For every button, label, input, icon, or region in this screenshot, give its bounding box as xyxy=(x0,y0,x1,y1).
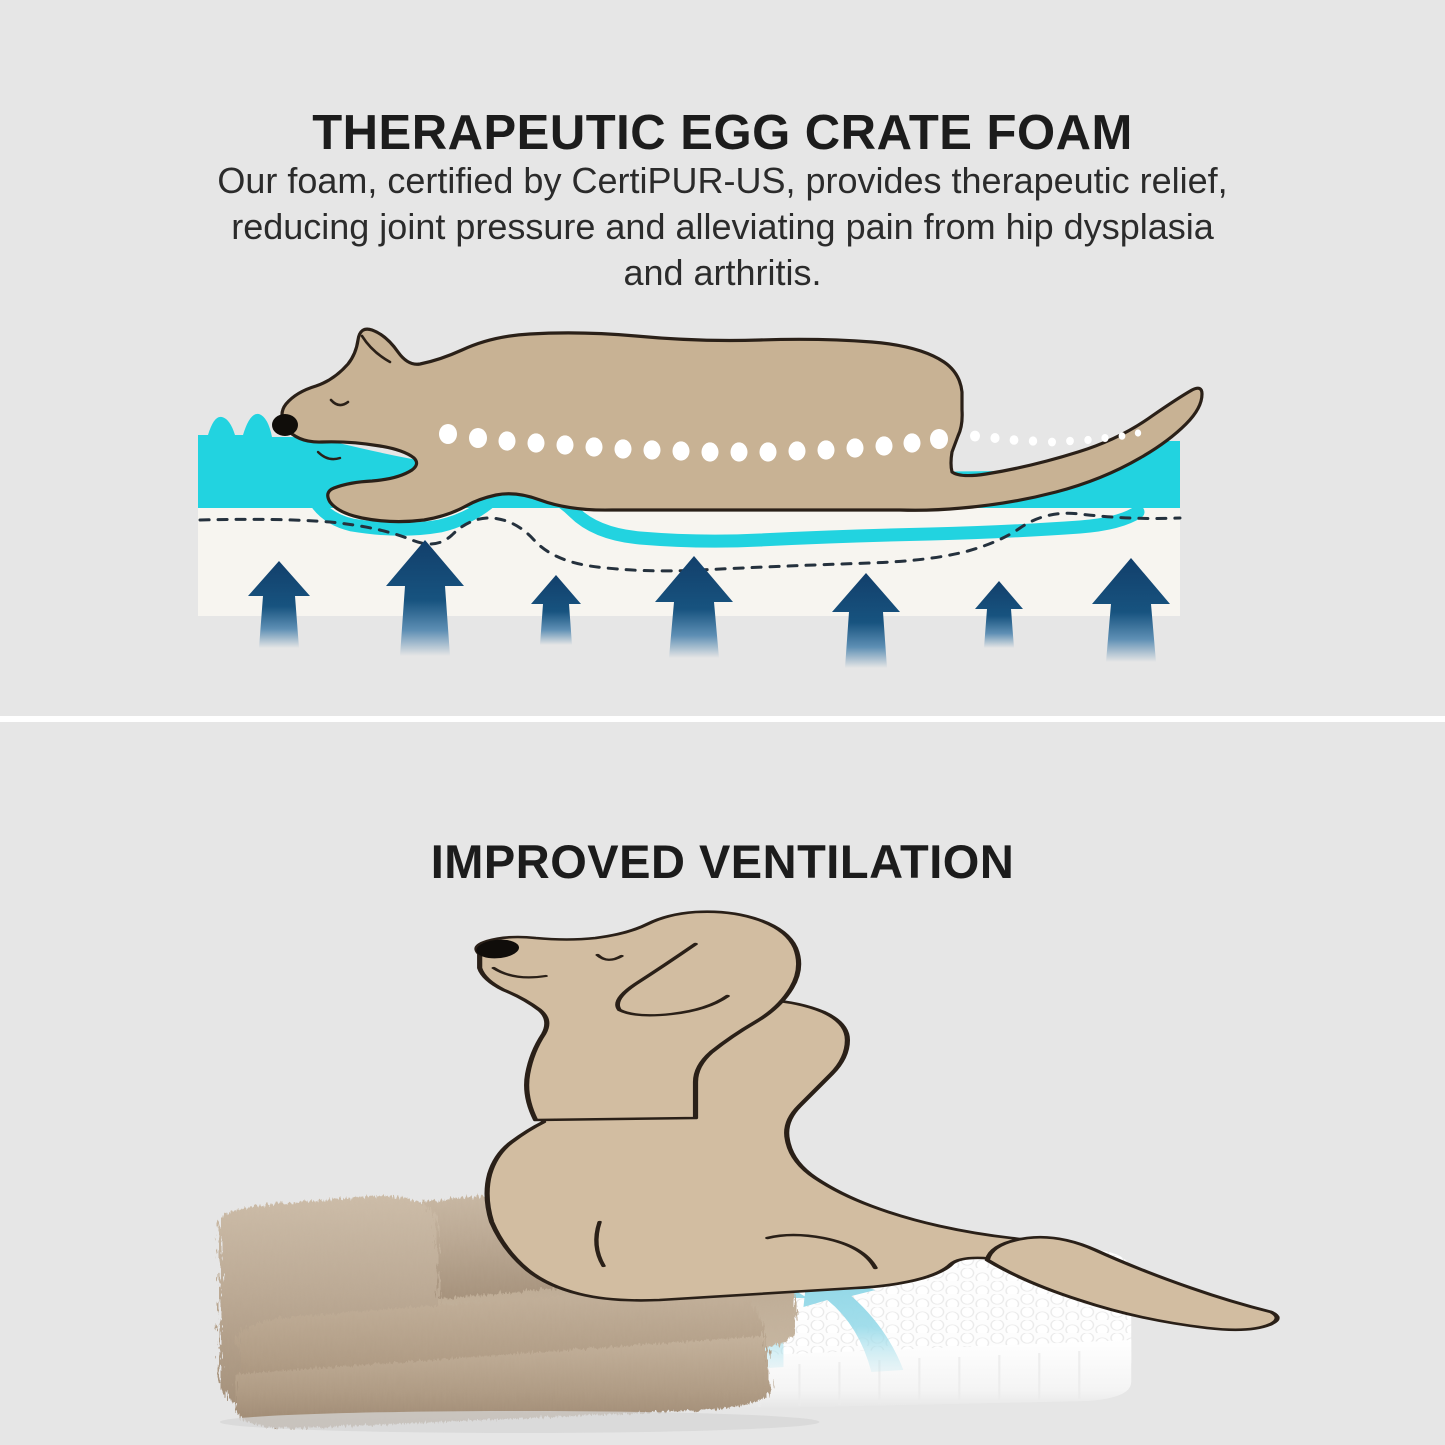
ventilation-illustration xyxy=(0,722,1445,1445)
dog-nose xyxy=(272,414,298,436)
product-infographic: THERAPEUTIC EGG CRATE FOAM Our foam, cer… xyxy=(0,0,1445,1445)
dog-silhouette-sitting xyxy=(470,912,1277,1330)
panel-improved-ventilation: IMPROVED VENTILATION xyxy=(0,722,1445,1445)
foam-cross-section-illustration xyxy=(0,0,1445,716)
panel-therapeutic-foam: THERAPEUTIC EGG CRATE FOAM Our foam, cer… xyxy=(0,0,1445,716)
bed-ground-shadow xyxy=(220,1411,820,1433)
